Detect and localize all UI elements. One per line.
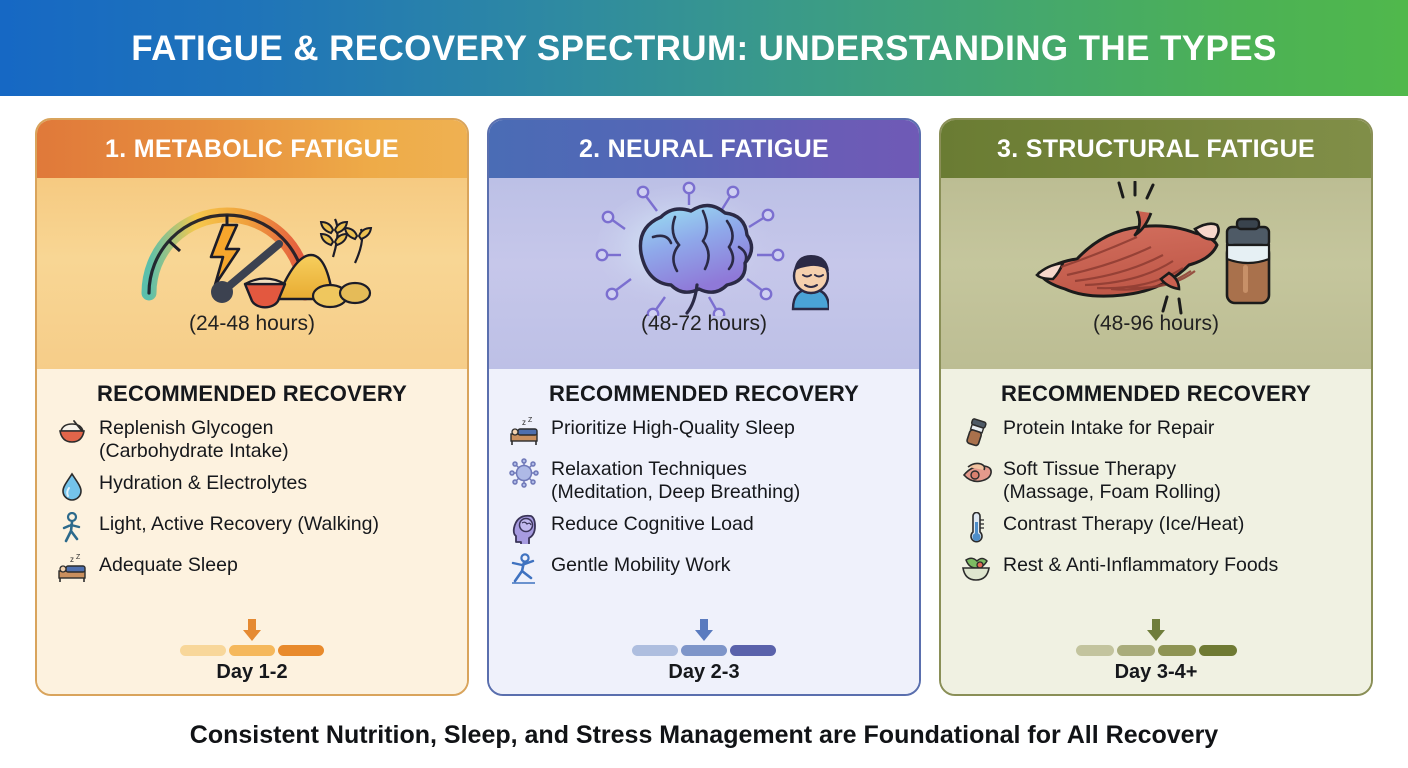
list-item[interactable]: z Z Adequate Sleep [55, 552, 453, 586]
illustration-band-structural: (48-96 hours) [941, 178, 1371, 369]
card-title: 1. METABOLIC FATIGUE [105, 135, 399, 164]
fatigue-card-grid: 1. METABOLIC FATIGUE [0, 118, 1408, 702]
card-body-metabolic: RECOMMENDED RECOVERY Replenish Glycogen [37, 369, 467, 694]
infographic-page: FATIGUE & RECOVERY SPECTRUM: UNDERSTANDI… [0, 0, 1408, 768]
day-label: Day 2-3 [668, 661, 739, 684]
svg-text:z: z [522, 418, 526, 427]
head-brain-icon [507, 511, 541, 545]
card-title: 3. STRUCTURAL FATIGUE [997, 135, 1315, 164]
recovery-heading: RECOMMENDED RECOVERY [97, 381, 407, 407]
salad-bowl-icon [959, 552, 993, 586]
progress-footer-metabolic: Day 1-2 [37, 618, 467, 684]
list-item-text: Relaxation Techniques (Meditation, Deep … [551, 456, 800, 504]
list-item[interactable]: Replenish Glycogen (Carbohydrate Intake) [55, 415, 453, 463]
recovery-heading: RECOMMENDED RECOVERY [1001, 381, 1311, 407]
list-item-text: Prioritize High-Quality Sleep [551, 415, 795, 440]
down-arrow-icon [241, 618, 263, 642]
list-item[interactable]: Relaxation Techniques (Meditation, Deep … [507, 456, 905, 504]
water-droplet-icon [55, 470, 89, 504]
progress-segments [1076, 645, 1237, 656]
list-item-text: Protein Intake for Repair [1003, 415, 1214, 440]
duration-label: (24-48 hours) [189, 312, 315, 336]
stretching-person-icon [507, 552, 541, 586]
progress-segment [681, 645, 727, 656]
illustration-band-neural: (48-72 hours) [489, 178, 919, 369]
list-item-text: Light, Active Recovery (Walking) [99, 511, 379, 536]
progress-segment [632, 645, 678, 656]
list-item-text: Gentle Mobility Work [551, 552, 731, 577]
torn-muscle-shaker-icon [941, 178, 1371, 318]
recovery-list-neural: z Z Prioritize High-Quality Sleep [489, 415, 919, 593]
list-item[interactable]: Gentle Mobility Work [507, 552, 905, 586]
list-item[interactable]: Protein Intake for Repair [959, 415, 1357, 449]
progress-segment [730, 645, 776, 656]
svg-text:Z: Z [76, 554, 81, 561]
progress-segment [1158, 645, 1196, 656]
gauge-lightning-carbs-icon [37, 178, 467, 318]
list-item-text: Reduce Cognitive Load [551, 511, 754, 536]
rice-bowl-icon [55, 415, 89, 449]
progress-segment [180, 645, 226, 656]
progress-segment [1199, 645, 1237, 656]
bed-sleep-icon: z Z [507, 415, 541, 449]
list-item[interactable]: Reduce Cognitive Load [507, 511, 905, 545]
brain-neural-network-icon [489, 178, 919, 318]
header-banner: FATIGUE & RECOVERY SPECTRUM: UNDERSTANDI… [0, 0, 1408, 96]
card-body-neural: RECOMMENDED RECOVERY z Z [489, 369, 919, 694]
protein-shaker-icon [959, 415, 993, 449]
walking-person-icon [55, 511, 89, 545]
footer-note: Consistent Nutrition, Sleep, and Stress … [0, 706, 1408, 764]
list-item[interactable]: Contrast Therapy (Ice/Heat) [959, 511, 1357, 545]
list-item[interactable]: z Z Prioritize High-Quality Sleep [507, 415, 905, 449]
card-body-structural: RECOMMENDED RECOVERY [941, 369, 1371, 694]
progress-footer-structural: Day 3-4+ [941, 618, 1371, 684]
progress-segments [632, 645, 776, 656]
card-header-neural: 2. NEURAL FATIGUE [489, 120, 919, 178]
down-arrow-icon [693, 618, 715, 642]
list-item-text: Replenish Glycogen (Carbohydrate Intake) [99, 415, 289, 463]
list-item-text: Rest & Anti-Inflammatory Foods [1003, 552, 1278, 577]
progress-footer-neural: Day 2-3 [489, 618, 919, 684]
bed-sleep-icon: z Z [55, 552, 89, 586]
massage-hand-icon [959, 456, 993, 490]
svg-text:z: z [70, 555, 74, 564]
day-label: Day 1-2 [216, 661, 287, 684]
list-item[interactable]: Hydration & Electrolytes [55, 470, 453, 504]
progress-segment [229, 645, 275, 656]
list-item[interactable]: Soft Tissue Therapy (Massage, Foam Rolli… [959, 456, 1357, 504]
progress-segment [1117, 645, 1155, 656]
progress-segment [1076, 645, 1114, 656]
svg-text:Z: Z [528, 417, 533, 424]
recovery-list-structural: Protein Intake for Repair Soft [941, 415, 1371, 593]
duration-label: (48-72 hours) [641, 312, 767, 336]
list-item-text: Hydration & Electrolytes [99, 470, 307, 495]
list-item-text: Contrast Therapy (Ice/Heat) [1003, 511, 1244, 536]
list-item[interactable]: Light, Active Recovery (Walking) [55, 511, 453, 545]
list-item-text: Adequate Sleep [99, 552, 238, 577]
duration-label: (48-96 hours) [1093, 312, 1219, 336]
card-header-metabolic: 1. METABOLIC FATIGUE [37, 120, 467, 178]
list-item-text: Soft Tissue Therapy (Massage, Foam Rolli… [1003, 456, 1221, 504]
recovery-list-metabolic: Replenish Glycogen (Carbohydrate Intake) [37, 415, 467, 593]
page-title: FATIGUE & RECOVERY SPECTRUM: UNDERSTANDI… [131, 31, 1276, 66]
card-metabolic-fatigue[interactable]: 1. METABOLIC FATIGUE [35, 118, 469, 696]
card-title: 2. NEURAL FATIGUE [579, 135, 829, 164]
day-label: Day 3-4+ [1115, 661, 1198, 684]
card-neural-fatigue[interactable]: 2. NEURAL FATIGUE [487, 118, 921, 696]
list-item[interactable]: Rest & Anti-Inflammatory Foods [959, 552, 1357, 586]
illustration-band-metabolic: (24-48 hours) [37, 178, 467, 369]
progress-segments [180, 645, 324, 656]
down-arrow-icon [1145, 618, 1167, 642]
recovery-heading: RECOMMENDED RECOVERY [549, 381, 859, 407]
card-header-structural: 3. STRUCTURAL FATIGUE [941, 120, 1371, 178]
meditation-virus-icon [507, 456, 541, 490]
footer-note-text: Consistent Nutrition, Sleep, and Stress … [190, 721, 1218, 750]
progress-segment [278, 645, 324, 656]
card-structural-fatigue[interactable]: 3. STRUCTURAL FATIGUE [939, 118, 1373, 696]
thermometer-icon [959, 511, 993, 545]
